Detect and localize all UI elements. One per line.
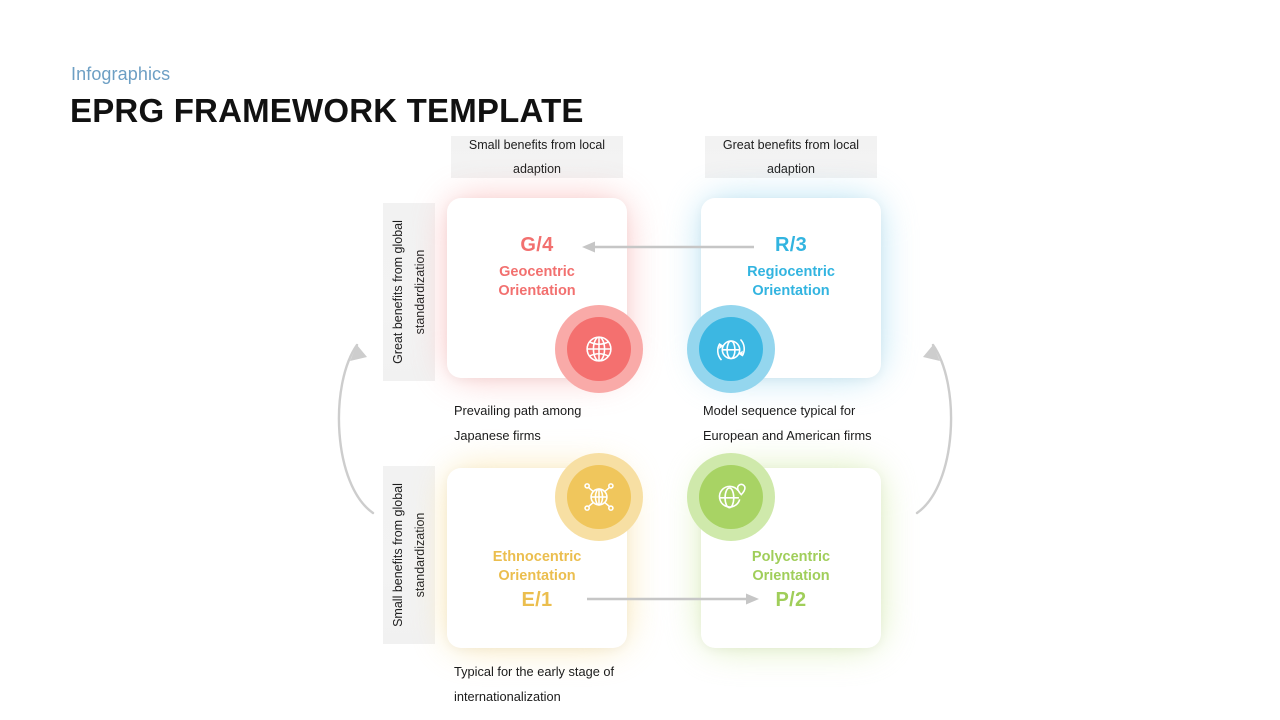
card-ethnocentric-orientation-line2: Orientation [447, 567, 627, 586]
arrow-curve-right-upward [895, 325, 965, 520]
card-ethnocentric-orientation-line1: Ethnocentric [447, 548, 627, 567]
page-title: EPRG FRAMEWORK TEMPLATE [70, 92, 584, 130]
caption-regiocentric: Model sequence typical for European and … [703, 398, 872, 448]
card-polycentric-orientation-line2: Orientation [701, 567, 881, 586]
axis-label-top-right: Great benefits from local adaption [705, 136, 877, 178]
axis-label-side-bottom-line2: standardization [413, 513, 427, 598]
card-regiocentric-orientation-line2: Orientation [701, 282, 881, 301]
card-geocentric-orientation-line1: Geocentric [447, 263, 627, 282]
arrow-regiocentric-to-geocentric [578, 236, 758, 258]
arrow-ethnocentric-to-polycentric [583, 588, 763, 610]
caption-ethnocentric-line2: internationalization [454, 684, 614, 709]
globe-refresh-icon [712, 330, 750, 368]
caption-ethnocentric-line1: Typical for the early stage of [454, 659, 614, 684]
card-regiocentric-orientation-line1: Regiocentric [701, 263, 881, 282]
caption-geocentric-line2: Japanese firms [454, 423, 581, 448]
caption-regiocentric-line2: European and American firms [703, 423, 872, 448]
slide-canvas: Infographics EPRG FRAMEWORK TEMPLATE Sma… [0, 0, 1280, 720]
kicker-label: Infographics [71, 64, 170, 85]
axis-label-top-left-text: Small benefits from local adaption [459, 133, 615, 181]
card-polycentric-orientation-line1: Polycentric [701, 548, 881, 567]
caption-regiocentric-line1: Model sequence typical for [703, 398, 872, 423]
medallion-geocentric [555, 305, 643, 393]
caption-geocentric-line1: Prevailing path among [454, 398, 581, 423]
caption-ethnocentric: Typical for the early stage of internati… [454, 659, 614, 709]
card-geocentric-orientation-line2: Orientation [447, 282, 627, 301]
arrow-curve-left-upward [325, 325, 395, 520]
axis-label-top-right-text: Great benefits from local adaption [713, 133, 869, 181]
axis-label-top-left: Small benefits from local adaption [451, 136, 623, 178]
globe-pin-icon [712, 478, 750, 516]
caption-geocentric: Prevailing path among Japanese firms [454, 398, 581, 448]
medallion-ethnocentric [555, 453, 643, 541]
medallion-polycentric [687, 453, 775, 541]
medallion-regiocentric [687, 305, 775, 393]
axis-label-side-top-line2: standardization [413, 250, 427, 335]
globe-icon [580, 330, 618, 368]
globe-network-icon [580, 478, 618, 516]
